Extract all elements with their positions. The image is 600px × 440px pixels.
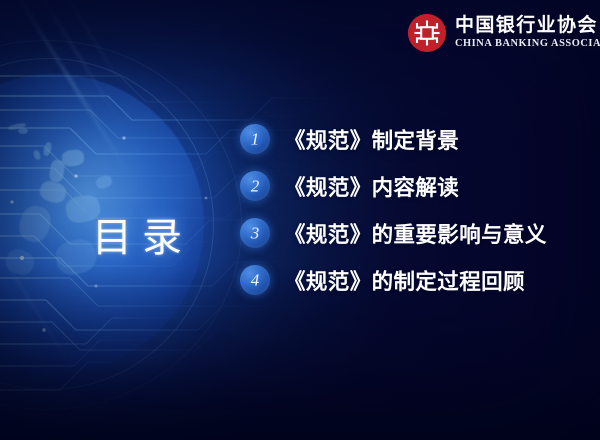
toc-item-label: 《规范》制定背景 — [284, 124, 459, 155]
toc-number-badge: 4 — [240, 265, 270, 295]
toc-number-badge: 1 — [240, 124, 270, 154]
china-banking-association-seal-icon — [408, 14, 446, 52]
toc-item-3[interactable]: 3 《规范》的重要影响与意义 — [240, 216, 547, 250]
toc-number: 1 — [251, 130, 260, 147]
toc-number-badge: 3 — [240, 218, 270, 248]
toc-item-1[interactable]: 1 《规范》制定背景 — [240, 122, 547, 156]
page-title: 目录 — [92, 205, 192, 263]
brand-logo: 中国银行业协会 CHINA BANKING ASSOCIATION — [408, 14, 600, 52]
toc-item-2[interactable]: 2 《规范》内容解读 — [240, 169, 547, 203]
toc-number: 4 — [251, 271, 260, 288]
toc-item-4[interactable]: 4 《规范》的制定过程回顾 — [240, 263, 547, 297]
toc-number: 2 — [251, 177, 260, 194]
toc-item-label: 《规范》内容解读 — [284, 171, 459, 202]
toc-item-label: 《规范》的重要影响与意义 — [284, 218, 547, 249]
brand-name-cn: 中国银行业协会 — [455, 16, 600, 35]
toc-item-label: 《规范》的制定过程回顾 — [284, 265, 525, 296]
brand-name-en: CHINA BANKING ASSOCIATION — [455, 39, 600, 49]
table-of-contents: 1 《规范》制定背景 2 《规范》内容解读 3 《规范》的重要影响与意义 4 《… — [240, 122, 547, 297]
toc-number-badge: 2 — [240, 171, 270, 201]
toc-number: 3 — [251, 224, 260, 241]
presentation-slide: 中国银行业协会 CHINA BANKING ASSOCIATION 目录 1 《… — [0, 0, 600, 440]
